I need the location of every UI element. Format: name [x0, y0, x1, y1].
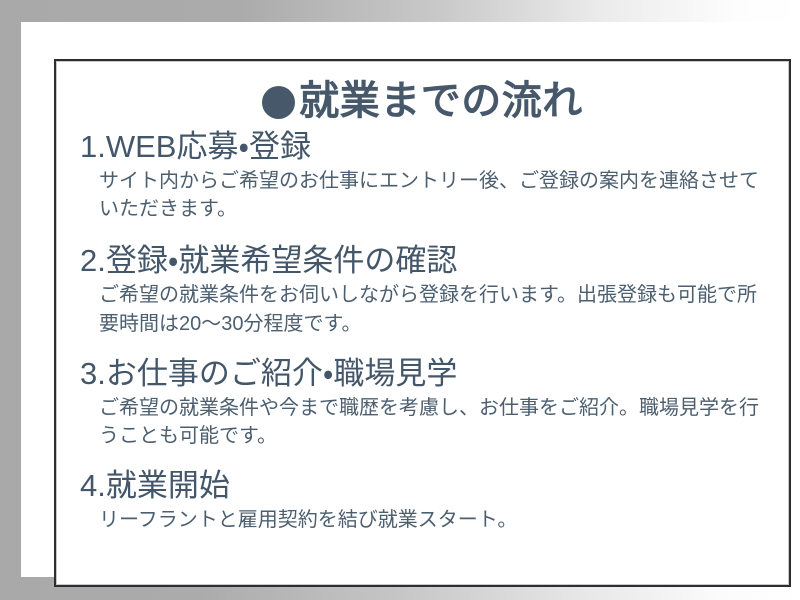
- content-frame-inner: 就業までの流れ 1.WEB応募・登録 サイト内からご希望のお仕事にエントリー後、…: [56, 61, 789, 585]
- step-heading-1: 1.WEB応募・登録: [80, 127, 775, 167]
- step-heading-3: 3.お仕事のご紹介・職場見学: [80, 354, 775, 394]
- filled-circle-bullet-icon: [262, 86, 295, 119]
- step-item-3: 3.お仕事のご紹介・職場見学 ご希望の就業条件や今まで職歴を考慮し、お仕事をご紹…: [70, 354, 775, 450]
- page-title-text: 就業までの流れ: [299, 81, 583, 121]
- page-title: 就業までの流れ: [70, 81, 775, 121]
- step-heading-4: 4.就業開始: [80, 466, 775, 506]
- step-item-4: 4.就業開始 リーフラントと雇用契約を結び就業スタート。: [70, 466, 775, 534]
- backdrop-left-bar: [0, 0, 21, 600]
- step-body-1: サイト内からご希望のお仕事にエントリー後、ご登録の案内を連絡させていただきます。: [99, 167, 769, 224]
- page-root: 就業までの流れ 1.WEB応募・登録 サイト内からご希望のお仕事にエントリー後、…: [0, 0, 800, 600]
- step-item-1: 1.WEB応募・登録 サイト内からご希望のお仕事にエントリー後、ご登録の案内を連…: [70, 127, 775, 223]
- step-body-2: ご希望の就業条件をお伺いしながら登録を行います。出張登録も可能で所要時間は20〜…: [99, 281, 769, 338]
- step-body-4: リーフラントと雇用契約を結び就業スタート。: [99, 506, 769, 534]
- steps-list: 1.WEB応募・登録 サイト内からご希望のお仕事にエントリー後、ご登録の案内を連…: [70, 127, 775, 534]
- paper-surface: 就業までの流れ 1.WEB応募・登録 サイト内からご希望のお仕事にエントリー後、…: [21, 22, 800, 577]
- step-heading-2: 2.登録・就業希望条件の確認: [80, 241, 775, 281]
- content-frame: 就業までの流れ 1.WEB応募・登録 サイト内からご希望のお仕事にエントリー後、…: [54, 59, 791, 587]
- backdrop-top-gradient: [0, 0, 800, 22]
- step-item-2: 2.登録・就業希望条件の確認 ご希望の就業条件をお伺いしながら登録を行います。出…: [70, 241, 775, 337]
- step-body-3: ご希望の就業条件や今まで職歴を考慮し、お仕事をご紹介。職場見学を行うことも可能で…: [99, 394, 769, 451]
